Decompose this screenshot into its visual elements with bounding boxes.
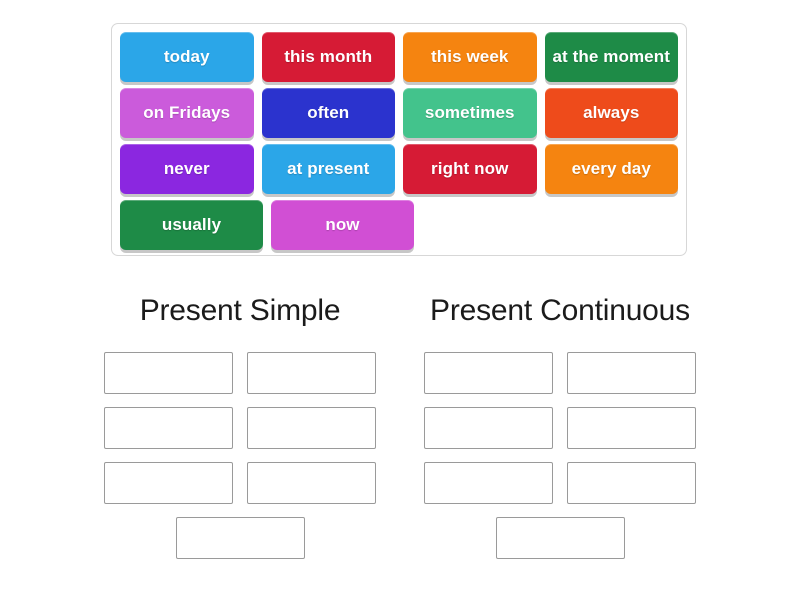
word-tile-often[interactable]: often bbox=[262, 88, 396, 138]
drop-slot[interactable] bbox=[247, 407, 376, 449]
word-tile-at-present[interactable]: at present bbox=[262, 144, 396, 194]
word-bank-row: today this month this week at the moment bbox=[120, 32, 678, 88]
category-title-present-continuous: Present Continuous bbox=[400, 290, 720, 336]
word-bank-row: usually now bbox=[120, 200, 678, 256]
word-tile-at-the-moment[interactable]: at the moment bbox=[545, 32, 679, 82]
drop-slot[interactable] bbox=[176, 517, 305, 559]
drop-slot[interactable] bbox=[104, 407, 233, 449]
drop-slot[interactable] bbox=[247, 352, 376, 394]
word-bank-panel: today this month this week at the moment… bbox=[111, 23, 687, 256]
drop-slot-grid-present-continuous bbox=[424, 352, 696, 559]
word-bank-row: never at present right now every day bbox=[120, 144, 678, 200]
drop-slot-grid-present-simple bbox=[104, 352, 376, 559]
word-tile-never[interactable]: never bbox=[120, 144, 254, 194]
drop-slot[interactable] bbox=[496, 517, 625, 559]
drop-slot[interactable] bbox=[567, 462, 696, 504]
word-tile-usually[interactable]: usually bbox=[120, 200, 263, 250]
drop-slot[interactable] bbox=[567, 352, 696, 394]
drop-slot[interactable] bbox=[104, 352, 233, 394]
word-tile-sometimes[interactable]: sometimes bbox=[403, 88, 537, 138]
word-tile-always[interactable]: always bbox=[545, 88, 679, 138]
word-bank-row: on Fridays often sometimes always bbox=[120, 88, 678, 144]
drop-slot[interactable] bbox=[567, 407, 696, 449]
drop-slot[interactable] bbox=[247, 462, 376, 504]
drop-slot[interactable] bbox=[424, 462, 553, 504]
drop-slot[interactable] bbox=[424, 352, 553, 394]
category-column-present-continuous: Present Continuous bbox=[400, 290, 720, 559]
word-tile-this-week[interactable]: this week bbox=[403, 32, 537, 82]
category-title-present-simple: Present Simple bbox=[80, 290, 400, 336]
word-tile-on-fridays[interactable]: on Fridays bbox=[120, 88, 254, 138]
word-tile-now[interactable]: now bbox=[271, 200, 414, 250]
drop-slot[interactable] bbox=[424, 407, 553, 449]
word-tile-this-month[interactable]: this month bbox=[262, 32, 396, 82]
word-tile-right-now[interactable]: right now bbox=[403, 144, 537, 194]
drop-slot[interactable] bbox=[104, 462, 233, 504]
category-column-present-simple: Present Simple bbox=[80, 290, 400, 559]
word-tile-today[interactable]: today bbox=[120, 32, 254, 82]
word-tile-every-day[interactable]: every day bbox=[545, 144, 679, 194]
